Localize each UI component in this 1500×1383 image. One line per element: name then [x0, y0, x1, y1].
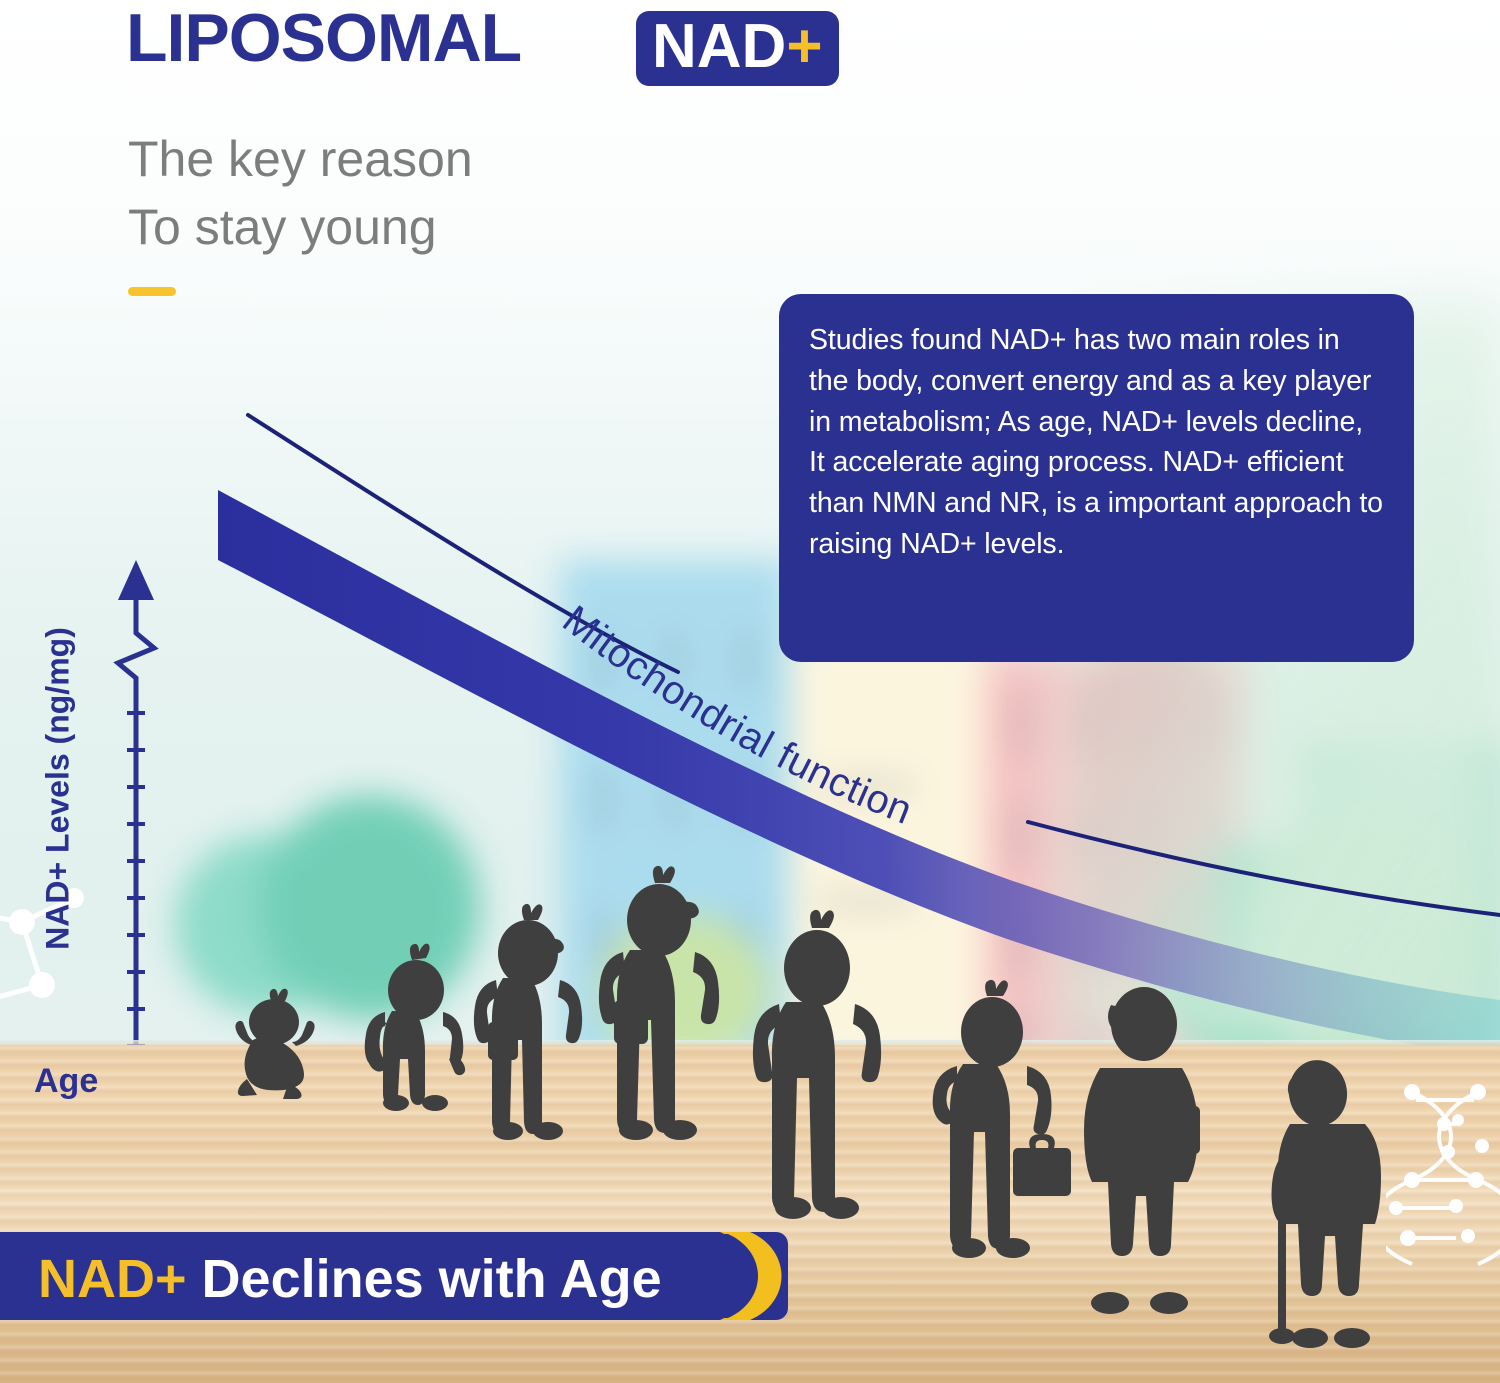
banner-highlight: NAD+ — [38, 1249, 187, 1309]
infographic-canvas: Mitochondrial function — [0, 0, 1500, 1383]
y-axis-label: NAD+ Levels (ng/mg) — [40, 559, 77, 1019]
nad-badge-text: NAD — [652, 12, 786, 81]
nad-plus-badge: NAD+ — [636, 11, 839, 86]
dna-helix-right-icon — [1386, 1080, 1500, 1270]
figure-elderly-with-cane — [1269, 1056, 1381, 1348]
figure-middle-aged-adult — [1084, 987, 1200, 1314]
info-card-body: Studies found NAD+ has two main roles in… — [809, 320, 1384, 565]
banner-arc-decoration-icon — [710, 1232, 796, 1320]
accent-dash — [128, 287, 176, 296]
page-title: LIPOSOMAL — [126, 4, 521, 72]
banner-title: NAD+ Declines with Age — [38, 1243, 662, 1316]
figure-baby-crawling — [235, 989, 314, 1099]
nad-badge-plus: + — [786, 12, 822, 81]
figure-young-adult — [753, 910, 881, 1219]
figure-adult-with-briefcase — [933, 980, 1071, 1258]
info-card: Studies found NAD+ has two main roles in… — [779, 294, 1414, 662]
figure-toddler-with-backpack — [365, 944, 465, 1111]
x-axis-label: Age — [34, 1062, 98, 1101]
figure-teen-with-bag — [599, 866, 719, 1140]
subtitle-line-1: The key reason — [128, 134, 473, 184]
figure-child-with-bag — [474, 904, 582, 1140]
subtitle-line-2: To stay young — [128, 202, 437, 252]
banner-rest: Declines with Age — [187, 1249, 662, 1309]
